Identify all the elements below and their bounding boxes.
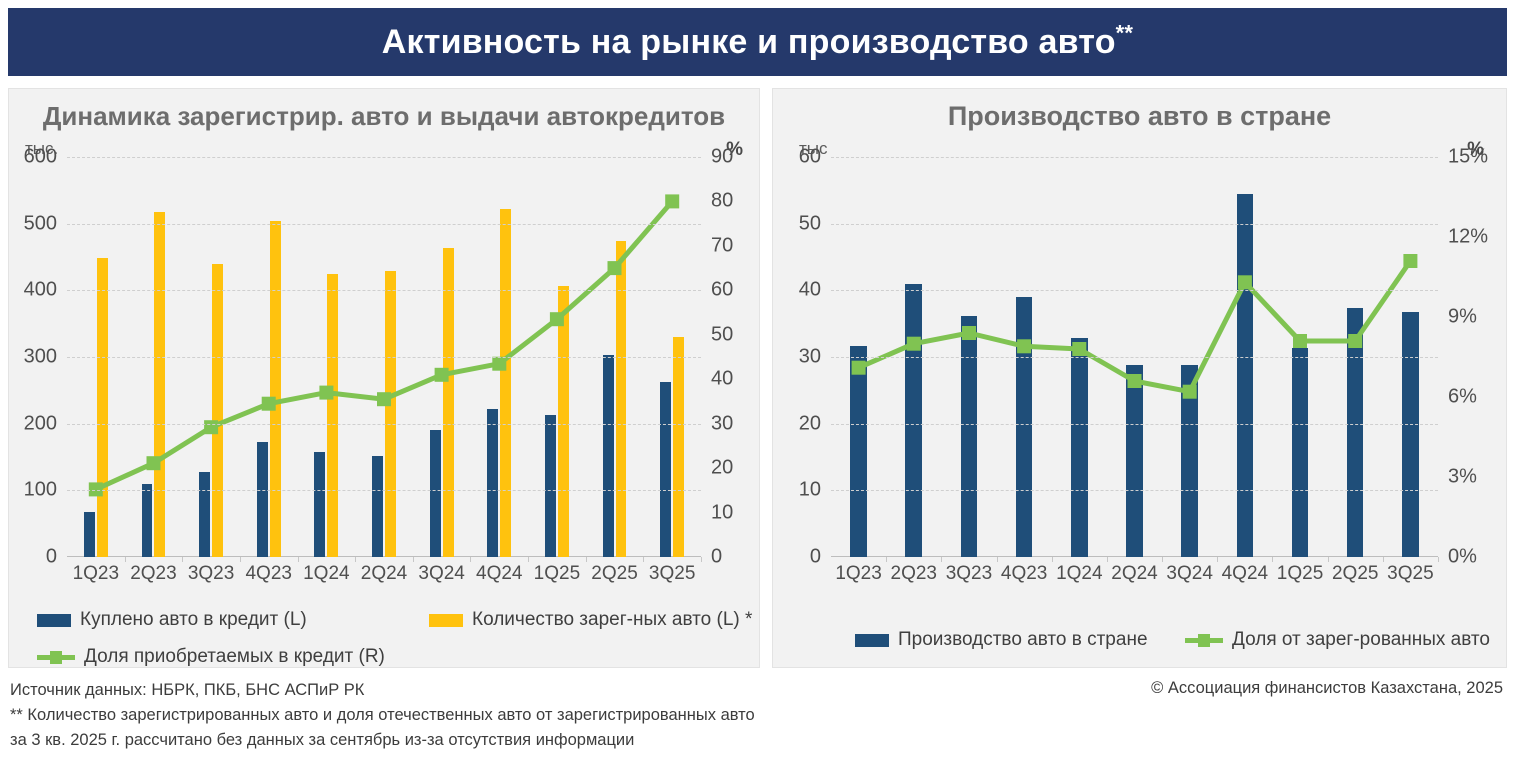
bar [850,346,867,557]
copyright-notice: © Ассоциация финансистов Казахстана, 202… [1151,679,1503,698]
x-axis-tick [997,557,998,562]
page-title-superscript: ** [1116,20,1134,45]
bar [385,271,396,557]
bar [154,212,165,557]
x-axis-label: 4Q24 [476,563,522,585]
x-axis-tick [1162,557,1163,562]
y-axis-tick-label-secondary: 15% [1448,146,1488,169]
bar [1347,308,1364,557]
bar [905,284,922,557]
x-axis-label: 2Q23 [891,563,937,585]
bar [1016,297,1033,557]
gridline [831,224,1438,225]
x-axis-tick [355,557,356,562]
x-axis-label: 3Q25 [649,563,695,585]
x-axis-tick [125,557,126,562]
x-axis-tick [1328,557,1329,562]
x-axis-labels-right: 1Q232Q233Q234Q231Q242Q243Q244Q241Q252Q25… [831,563,1438,589]
x-axis-tick [1383,557,1384,562]
legend-item-credit-share[interactable]: Доля приобретаемых в кредит (R) [37,646,385,668]
legend-swatch-green-line-icon [37,651,75,664]
y-axis-tick-label-primary: 0 [810,546,821,569]
x-axis-tick [701,557,702,562]
x-axis-label: 1Q25 [534,563,580,585]
x-axis-tick [1272,557,1273,562]
y-axis-tick-label-primary: 500 [24,212,57,235]
gridline [67,424,701,425]
x-axis-tick [1052,557,1053,562]
bar [545,415,556,557]
y-axis-tick-label-secondary: 20 [711,457,733,480]
bar [558,286,569,557]
chart-title-right: Производство авто в стране [773,101,1506,132]
y-axis-tick-label-secondary: 0% [1448,546,1477,569]
y-axis-tick-label-primary: 200 [24,412,57,435]
x-axis-tick [643,557,644,562]
x-axis-label: 1Q24 [1056,563,1102,585]
y-axis-tick-label-secondary: 0 [711,546,722,569]
legend-item-registered[interactable]: Количество зарег-ных авто (L) * [429,609,752,631]
legend-swatch-green-line-icon [1185,634,1223,647]
bar [430,430,441,557]
bar [1402,312,1419,557]
bar [372,456,383,557]
y-axis-tick-label-secondary: 60 [711,279,733,302]
bar [603,355,614,557]
y-axis-tick-label-primary: 50 [799,212,821,235]
y-axis-tick-label-secondary: 3% [1448,466,1477,489]
y-axis-tick-label-primary: 20 [799,412,821,435]
bar [673,337,684,557]
gridline [831,490,1438,491]
gridline [67,157,701,158]
chart-panel-right: Производство авто в стране тыс % 0102030… [772,88,1507,668]
x-axis-label: 1Q23 [73,563,119,585]
gridline [67,357,701,358]
bar [257,442,268,557]
bar [1071,338,1088,557]
y-axis-tick-label-secondary: 30 [711,412,733,435]
y-axis-tick-label-secondary: 50 [711,323,733,346]
bar [961,316,978,557]
infographic-page: Активность на рынке и производство авто*… [0,0,1515,757]
bar [443,248,454,557]
page-header: Активность на рынке и производство авто*… [8,8,1507,76]
chart-title-left: Динамика зарегистрир. авто и выдачи авто… [9,101,759,132]
bar [500,209,511,557]
bar [1237,194,1254,557]
x-axis-label: 4Q23 [1001,563,1047,585]
gridline [67,224,701,225]
x-axis-label: 2Q25 [1332,563,1378,585]
x-axis-label: 3Q24 [418,563,464,585]
bar [327,274,338,557]
legend-item-share-registered[interactable]: Доля от зарег-рованных авто [1185,629,1490,651]
bar [212,264,223,557]
x-axis-tick [528,557,529,562]
y-axis-tick-label-secondary: 90 [711,146,733,169]
x-axis-label: 3Q25 [1387,563,1433,585]
y-axis-tick-label-primary: 400 [24,279,57,302]
bar [270,221,281,557]
gridline [831,157,1438,158]
x-axis-labels-left: 1Q232Q233Q234Q231Q242Q243Q244Q241Q252Q25… [67,563,701,589]
x-axis-label: 3Q24 [1166,563,1212,585]
bar [660,382,671,557]
y-axis-tick-label-secondary: 40 [711,368,733,391]
x-axis-tick [182,557,183,562]
y-axis-tick-label-primary: 10 [799,479,821,502]
x-axis-tick [886,557,887,562]
y-axis-tick-label-primary: 40 [799,279,821,302]
y-axis-tick-label-secondary: 6% [1448,386,1477,409]
footnote-note-line-1: ** Количество зарегистрированных авто и … [10,703,790,728]
y-axis-tick-label-secondary: 9% [1448,306,1477,329]
bar [487,409,498,557]
x-axis-label: 2Q25 [591,563,637,585]
x-axis-tick [240,557,241,562]
x-axis-label: 3Q23 [946,563,992,585]
legend-label-production: Производство авто в стране [898,629,1148,651]
y-axis-tick-label-primary: 100 [24,479,57,502]
x-axis-label: 2Q24 [1111,563,1157,585]
y-axis-tick-label-primary: 30 [799,346,821,369]
x-axis-label: 1Q25 [1277,563,1323,585]
x-axis-label: 4Q24 [1222,563,1268,585]
legend-item-production[interactable]: Производство авто в стране [855,629,1148,651]
bar [1181,365,1198,557]
x-axis-label: 3Q23 [188,563,234,585]
bar [314,452,325,557]
legend-swatch-blue-icon [37,614,71,627]
bar [97,258,108,557]
chart-panel-left: Динамика зарегистрир. авто и выдачи авто… [8,88,760,668]
plot-area-left: 01002003004005006000102030405060708090 [67,157,701,557]
x-axis-label: 4Q23 [245,563,291,585]
x-axis-tick [941,557,942,562]
legend-label-credit-bought: Куплено авто в кредит (L) [80,609,307,631]
legend-swatch-yellow-icon [429,614,463,627]
bar [1126,365,1143,557]
legend-swatch-blue-icon [855,634,889,647]
x-axis-label: 2Q24 [361,563,407,585]
gridline [831,424,1438,425]
x-axis-label: 2Q23 [130,563,176,585]
bar [84,512,95,557]
y-axis-tick-label-primary: 300 [24,346,57,369]
x-axis-tick [1217,557,1218,562]
y-axis-tick-label-primary: 0 [46,546,57,569]
footnotes: Источник данных: НБРК, ПКБ, БНС АСПиР РК… [10,678,790,752]
y-axis-tick-label-secondary: 80 [711,190,733,213]
legend-label-credit-share: Доля приобретаемых в кредит (R) [84,646,385,668]
page-title: Активность на рынке и производство авто*… [382,23,1133,62]
plot-area-right: 01020304050600%3%6%9%12%15% [831,157,1438,557]
y-axis-tick-label-primary: 60 [799,146,821,169]
bar [199,472,210,557]
y-axis-tick-label-primary: 600 [24,146,57,169]
x-axis-label: 1Q23 [835,563,881,585]
gridline [831,357,1438,358]
y-axis-tick-label-secondary: 10 [711,501,733,524]
x-axis-tick [298,557,299,562]
x-axis-label: 1Q24 [303,563,349,585]
x-axis-tick [586,557,587,562]
bar [142,484,153,557]
gridline [67,490,701,491]
bar [616,241,627,557]
legend-label-share-registered: Доля от зарег-рованных авто [1232,629,1490,651]
page-title-text: Активность на рынке и производство авто [382,23,1116,61]
bar [1292,348,1309,557]
y-axis-tick-label-secondary: 12% [1448,226,1488,249]
x-axis-tick [1107,557,1108,562]
gridline [67,290,701,291]
x-axis-tick [413,557,414,562]
footnote-note-line-2: за 3 кв. 2025 г. рассчитано без данных з… [10,728,790,753]
x-axis-tick [470,557,471,562]
y-axis-tick-label-secondary: 70 [711,234,733,257]
x-axis-tick [1438,557,1439,562]
gridline [831,290,1438,291]
legend-item-credit-bought[interactable]: Куплено авто в кредит (L) [37,609,307,631]
legend-label-registered: Количество зарег-ных авто (L) * [472,609,752,631]
footnote-source: Источник данных: НБРК, ПКБ, БНС АСПиР РК [10,678,790,703]
